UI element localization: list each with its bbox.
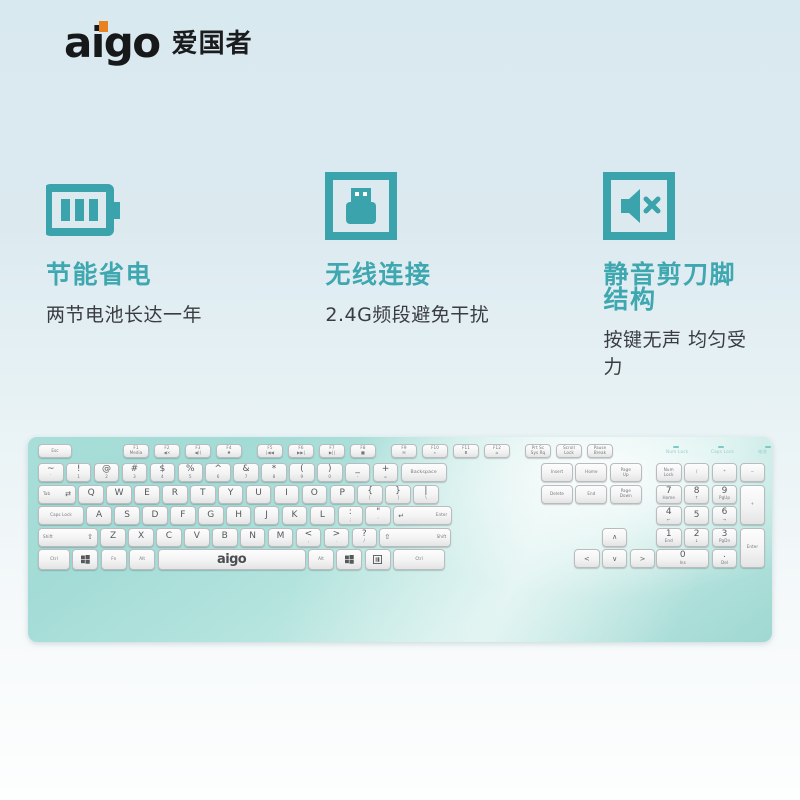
key-numpad-+[interactable]: + [740, 485, 766, 525]
key-f1[interactable]: F1Media [123, 444, 149, 458]
battery-icon [46, 168, 279, 240]
feature-title: 无线连接 [325, 262, 515, 287]
key-6[interactable]: ^6 [205, 463, 231, 482]
key-f2[interactable]: F2◀× [154, 444, 180, 458]
key-alt-right[interactable]: Alt [308, 549, 334, 570]
key-numpad-−[interactable]: − [740, 463, 766, 482]
key-3[interactable]: #3 [122, 463, 148, 482]
key-o[interactable]: O [302, 485, 328, 504]
key-k[interactable]: K [282, 506, 308, 525]
key-;[interactable]: :; [338, 506, 364, 525]
key-c[interactable]: C [156, 528, 182, 547]
key-\[interactable]: |\ [413, 485, 439, 504]
key-scroll[interactable]: ScrollLock [556, 444, 582, 458]
key-numpad-6[interactable]: 6→ [712, 506, 738, 525]
key-prt-sc[interactable]: Prt ScSys Rq [525, 444, 551, 458]
key-f6[interactable]: F6▶▶| [288, 444, 314, 458]
key-'[interactable]: "' [365, 506, 391, 525]
key-f12[interactable]: F12⌂ [484, 444, 510, 458]
key-numpad-num[interactable]: NumLock [656, 463, 682, 482]
key-p[interactable]: P [330, 485, 356, 504]
feature-title: 静音剪刀脚结构 [603, 262, 754, 312]
key-0[interactable]: )0 [317, 463, 343, 482]
feature-item-wireless: 无线连接 2.4G频段避免干扰 [279, 168, 515, 379]
key-tab[interactable]: Tab⇄ [38, 485, 76, 504]
key-][interactable]: }] [385, 485, 411, 504]
key-t[interactable]: T [190, 485, 216, 504]
key-pagedown[interactable]: PageDown [610, 485, 642, 504]
logo-wordmark: aigo [64, 22, 160, 64]
key-n[interactable]: N [240, 528, 266, 547]
key-f7[interactable]: F7▶|| [319, 444, 345, 458]
key-esc[interactable]: Esc [38, 444, 72, 458]
key-y[interactable]: Y [218, 485, 244, 504]
brand-header: aigo 爱国者 [0, 0, 800, 64]
led-battery [765, 446, 771, 448]
keyboard-body: EscF1MediaF2◀×F3◀))F4✹F5|◀◀F6▶▶|F7▶||F8■… [28, 437, 772, 642]
key-numpad-enter[interactable]: Enter [740, 528, 766, 568]
key-g[interactable]: G [198, 506, 224, 525]
key-numpad-.[interactable]: .Del [712, 549, 738, 568]
key-end[interactable]: End [575, 485, 607, 504]
key-numpad-/[interactable]: / [684, 463, 710, 482]
key-z[interactable]: Z [100, 528, 126, 547]
key-l[interactable]: L [310, 506, 336, 525]
key-arrow-right[interactable]: > [630, 549, 656, 568]
key-arrow-down[interactable]: ∨ [602, 549, 628, 568]
key-f4[interactable]: F4✹ [216, 444, 242, 458]
key-pageup[interactable]: PageUp [610, 463, 642, 482]
key-backspace[interactable]: Backspace [401, 463, 447, 482]
key-enter[interactable]: ↵Enter [393, 506, 452, 525]
key-numpad-0[interactable]: 0Ins [656, 549, 709, 568]
key-ctrl-right[interactable]: Ctrl [393, 549, 445, 570]
key-b[interactable]: B [212, 528, 238, 547]
led-label-battery: 电池 [758, 449, 767, 455]
key-q[interactable]: Q [78, 485, 104, 504]
key-numpad-7[interactable]: 7Home [656, 485, 682, 504]
led-caps-lock [718, 446, 724, 448]
key-j[interactable]: J [254, 506, 280, 525]
key-numpad-1[interactable]: 1End [656, 528, 682, 547]
key-arrow-up[interactable]: ∧ [602, 528, 628, 547]
key-f3[interactable]: F3◀)) [185, 444, 211, 458]
led-label-num-lock: Num Lock [666, 449, 688, 454]
key-f8[interactable]: F8■ [350, 444, 376, 458]
key-1[interactable]: !1 [66, 463, 92, 482]
key-home[interactable]: Home [575, 463, 607, 482]
feature-subtitle: 2.4G频段避免干扰 [325, 300, 515, 327]
key-7[interactable]: &7 [233, 463, 259, 482]
key-=[interactable]: += [373, 463, 399, 482]
key-[[interactable]: {[ [357, 485, 383, 504]
logo-accent-dot [99, 21, 108, 32]
key-numpad-9[interactable]: 9PgUp [712, 485, 738, 504]
feature-item-battery: 节能省电 两节电池长达一年 [46, 168, 279, 379]
key-s[interactable]: S [114, 506, 140, 525]
led-num-lock [673, 446, 679, 448]
key--[interactable]: _- [345, 463, 371, 482]
led-label-caps-lock: Caps Lock [711, 449, 734, 454]
key-,[interactable]: <, [296, 528, 322, 547]
key-windows-icon[interactable] [72, 549, 98, 570]
key-v[interactable]: V [184, 528, 210, 547]
key-arrow-left[interactable]: < [574, 549, 600, 568]
key-/[interactable]: ?/ [352, 528, 378, 547]
feature-subtitle: 两节电池长达一年 [46, 300, 279, 327]
key-caps lock[interactable]: Caps Lock [38, 506, 84, 525]
logo-chinese-name: 爱国者 [172, 23, 253, 60]
key-w[interactable]: W [106, 485, 132, 504]
key-shift-left[interactable]: Shift⇧ [38, 528, 98, 547]
key-fn[interactable]: Fn [101, 549, 127, 570]
feature-item-silent: 静音剪刀脚结构 按键无声 均匀受力 [515, 168, 754, 379]
key-alt[interactable]: Alt [129, 549, 155, 570]
key-h[interactable]: H [226, 506, 252, 525]
key-numpad-4[interactable]: 4← [656, 506, 682, 525]
usb-receiver-icon [325, 168, 515, 240]
keyboard-image: EscF1MediaF2◀×F3◀))F4✹F5|◀◀F6▶▶|F7▶||F8■… [28, 437, 772, 642]
key-numpad-8[interactable]: 8↑ [684, 485, 710, 504]
key-.[interactable]: >. [324, 528, 350, 547]
key-m[interactable]: M [268, 528, 294, 547]
key-insert[interactable]: Insert [541, 463, 573, 482]
aigo-logo: aigo [64, 22, 160, 64]
key-pause[interactable]: PauseBreak [587, 444, 613, 458]
key-f5[interactable]: F5|◀◀ [257, 444, 283, 458]
feature-subtitle: 按键无声 均匀受力 [603, 325, 754, 379]
feature-list: 节能省电 两节电池长达一年 无线连接 2.4G频段避免干扰 静音剪刀脚结构 按键… [0, 168, 800, 379]
feature-title: 节能省电 [46, 262, 279, 287]
key-`[interactable]: ~` [38, 463, 64, 482]
key-a[interactable]: A [86, 506, 112, 525]
key-f[interactable]: F [170, 506, 196, 525]
key-x[interactable]: X [128, 528, 154, 547]
key-4[interactable]: $4 [150, 463, 176, 482]
key-i[interactable]: I [274, 485, 300, 504]
key-r[interactable]: R [162, 485, 188, 504]
key-u[interactable]: U [246, 485, 272, 504]
key-e[interactable]: E [134, 485, 160, 504]
key-menu-icon-right[interactable] [365, 549, 391, 570]
key-numpad-*[interactable]: * [712, 463, 738, 482]
key-numpad-3[interactable]: 3PgDn [712, 528, 738, 547]
key-d[interactable]: D [142, 506, 168, 525]
key-f9[interactable]: F9✉ [391, 444, 417, 458]
key-5[interactable]: %5 [178, 463, 204, 482]
key-numpad-5[interactable]: 5 [684, 506, 710, 525]
key-numpad-2[interactable]: 2↓ [684, 528, 710, 547]
key-spacebar[interactable]: aigo [158, 549, 306, 570]
key-f10[interactable]: F10⌕ [422, 444, 448, 458]
key-9[interactable]: (9 [289, 463, 315, 482]
key-delete[interactable]: Delete [541, 485, 573, 504]
key-8[interactable]: *8 [261, 463, 287, 482]
mute-speaker-icon [603, 168, 754, 240]
key-shift[interactable]: ⇧Shift [379, 528, 451, 547]
key-ctrl[interactable]: Ctrl [38, 549, 70, 570]
key-windows-icon-right[interactable] [336, 549, 362, 570]
key-2[interactable]: @2 [94, 463, 120, 482]
key-f11[interactable]: F11🖩 [453, 444, 479, 458]
